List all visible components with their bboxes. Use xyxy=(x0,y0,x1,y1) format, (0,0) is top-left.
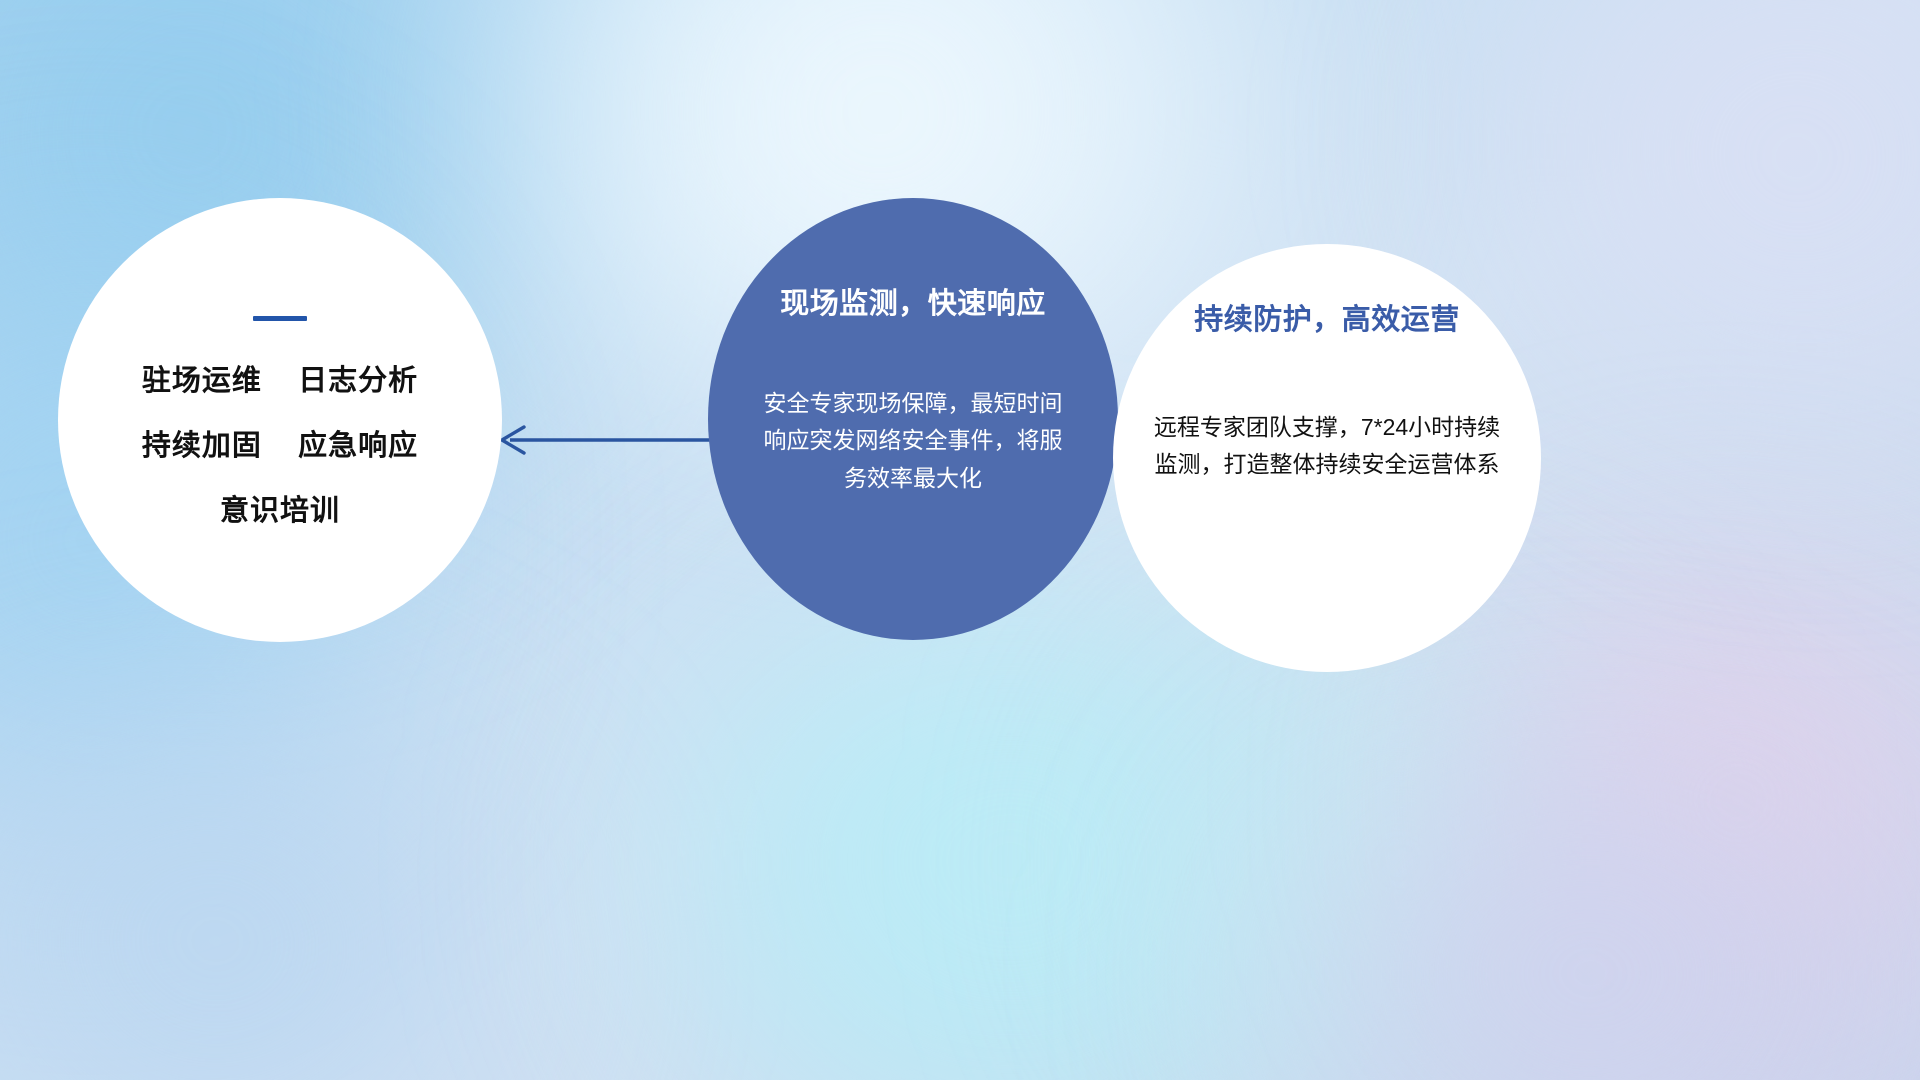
arrow-left-icon xyxy=(488,408,728,472)
capability-line-3: 意识培训 xyxy=(220,497,340,526)
continuous-protection-body: 远程专家团队支撑，7*24小时持续监测，打造整体持续安全运营体系 xyxy=(1153,409,1501,484)
capability-line-2: 持续加固 应急响应 xyxy=(142,432,418,461)
onsite-monitoring-body: 安全专家现场保障，最短时间响应突发网络安全事件，将服务效率最大化 xyxy=(763,385,1063,497)
capability-line-1: 驻场运维 日志分析 xyxy=(142,367,418,396)
accent-dash-icon xyxy=(253,316,307,321)
continuous-protection-title: 持续防护，高效运营 xyxy=(1194,306,1460,335)
left-arrow-connector xyxy=(488,408,728,472)
slide-canvas: 驻场运维 日志分析 持续加固 应急响应 意识培训 现场监测，快速响应 安全专家现… xyxy=(0,0,1920,1080)
capabilities-circle[interactable]: 驻场运维 日志分析 持续加固 应急响应 意识培训 xyxy=(58,198,502,642)
onsite-monitoring-title: 现场监测，快速响应 xyxy=(780,290,1046,319)
onsite-monitoring-circle[interactable]: 现场监测，快速响应 安全专家现场保障，最短时间响应突发网络安全事件，将服务效率最… xyxy=(708,198,1118,640)
continuous-protection-circle[interactable]: 持续防护，高效运营 远程专家团队支撑，7*24小时持续监测，打造整体持续安全运营… xyxy=(1113,244,1541,672)
